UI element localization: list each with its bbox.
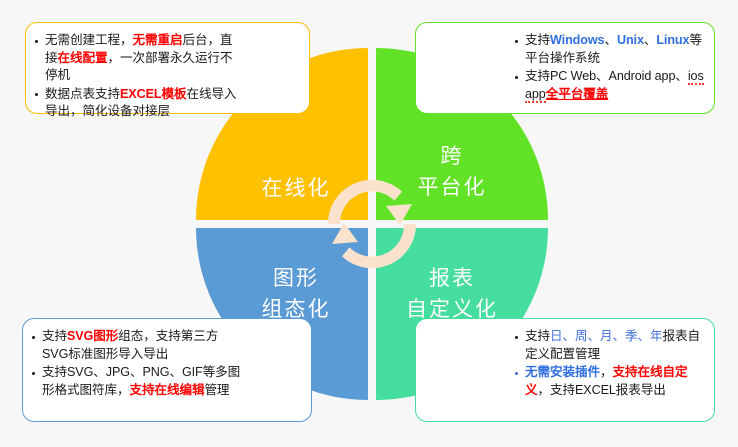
slide-canvas: 无需创建工程，无需重启后台，直接在线配置，一次部署永久运行不停机 数据点表支持E… bbox=[0, 0, 738, 447]
text-run-emphasis: EXCEL模板 bbox=[120, 87, 186, 101]
text-run-emphasis: 支持在线编辑 bbox=[129, 383, 204, 397]
text-run: 、 bbox=[644, 33, 657, 47]
callout-online: 无需创建工程，无需重启后台，直接在线配置，一次部署永久运行不停机 数据点表支持E… bbox=[25, 22, 310, 114]
callout-report-custom: 支持日、周、月、季、年报表自定义配置管理 无需安装插件，支持在线自定义，支持EX… bbox=[415, 318, 715, 422]
list-item: 无需安装插件，支持在线自定义，支持EXCEL报表导出 bbox=[514, 364, 704, 399]
quadrant-label-graphics-config: 图形 组态化 bbox=[226, 263, 366, 325]
text-run: 、 bbox=[604, 33, 617, 47]
text-run-emphasis: 在线配置 bbox=[58, 51, 108, 65]
text-run: 支持 bbox=[525, 33, 550, 47]
list-item: 支持SVG图形组态，支持第三方SVG标准图形导入导出 bbox=[31, 328, 241, 363]
text-run-emphasis: 无需重启 bbox=[132, 33, 182, 47]
quadrant-label-cross-platform: 跨 平台化 bbox=[382, 141, 522, 203]
bullet-list-report-custom: 支持日、周、月、季、年报表自定义配置管理 无需安装插件，支持在线自定义，支持EX… bbox=[514, 328, 704, 399]
list-item: 支持日、周、月、季、年报表自定义配置管理 bbox=[514, 328, 704, 363]
text-run: ， bbox=[600, 365, 613, 379]
quadrant-label-online: 在线化 bbox=[226, 173, 366, 204]
text-run-emphasis: SVG图形 bbox=[67, 329, 118, 343]
list-item: 支持PC Web、Android app、ios app全平台覆盖 bbox=[514, 68, 704, 103]
text-run: 支持 bbox=[42, 329, 67, 343]
text-run: 无需创建工程， bbox=[45, 33, 132, 47]
text-run: ，支持EXCEL报表导出 bbox=[538, 383, 666, 397]
bullet-list-online: 无需创建工程，无需重启后台，直接在线配置，一次部署永久运行不停机 数据点表支持E… bbox=[34, 32, 239, 121]
text-run-emphasis: 日、周、月、季、年 bbox=[550, 329, 662, 343]
list-item: 无需创建工程，无需重启后台，直接在线配置，一次部署永久运行不停机 bbox=[34, 32, 239, 85]
list-item: 支持SVG、JPG、PNG、GIF等多图形格式图符库，支持在线编辑管理 bbox=[31, 364, 241, 399]
callout-graphics-config: 支持SVG图形组态，支持第三方SVG标准图形导入导出 支持SVG、JPG、PNG… bbox=[22, 318, 312, 422]
text-run: 支持PC Web、Android app、 bbox=[525, 69, 688, 83]
list-item: 数据点表支持EXCEL模板在线导入导出，简化设备对接层 bbox=[34, 86, 239, 121]
text-run: 管理 bbox=[204, 383, 229, 397]
bullet-list-cross-platform: 支持Windows、Unix、Linux等平台操作系统 支持PC Web、And… bbox=[514, 32, 704, 103]
text-run-emphasis: 无需安装插件 bbox=[525, 365, 600, 379]
bullet-list-graphics-config: 支持SVG图形组态，支持第三方SVG标准图形导入导出 支持SVG、JPG、PNG… bbox=[31, 328, 241, 399]
text-run-emphasis: Unix bbox=[617, 33, 644, 47]
text-run-emphasis: 全平台覆盖 bbox=[546, 87, 608, 101]
text-run: 数据点表支持 bbox=[45, 87, 120, 101]
text-run: 支持 bbox=[525, 329, 550, 343]
list-item: 支持Windows、Unix、Linux等平台操作系统 bbox=[514, 32, 704, 67]
text-run-emphasis: Windows bbox=[550, 33, 604, 47]
quadrant-label-report-custom: 报表 自定义化 bbox=[382, 263, 522, 325]
callout-cross-platform: 支持Windows、Unix、Linux等平台操作系统 支持PC Web、And… bbox=[415, 22, 715, 114]
text-run-emphasis: Linux bbox=[656, 33, 689, 47]
